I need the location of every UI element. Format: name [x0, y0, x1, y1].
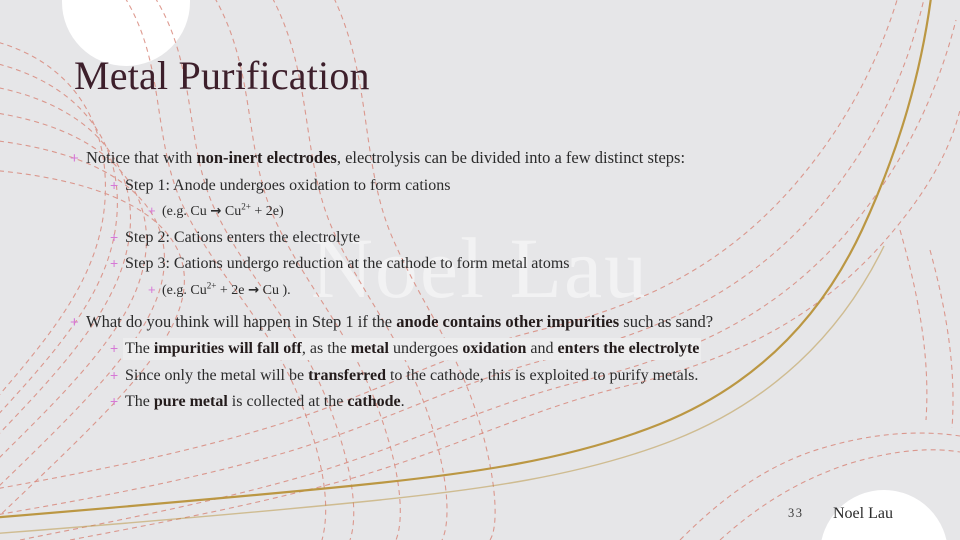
plus-bullet-icon: + — [110, 229, 125, 245]
bullet-item-1: + Notice that with non-inert electrodes,… — [70, 148, 900, 168]
bullet-item-5: + Step 3: Cations undergo reduction at t… — [70, 255, 900, 273]
bullet-item-4: + Step 2: Cations enters the electrolyte — [70, 229, 900, 247]
bullet-item-2: + Step 1: Anode undergoes oxidation to f… — [70, 177, 900, 195]
bullet-item-9: + Since only the metal will be transferr… — [70, 367, 900, 385]
slide-canvas: Noel Lau — [0, 0, 960, 540]
bullet-item-7: + What do you think will happen in Step … — [70, 312, 900, 332]
bullet-2-text: Step 1: Anode undergoes oxidation to for… — [125, 177, 450, 195]
plus-bullet-icon: + — [110, 255, 125, 271]
plus-bullet-icon: + — [110, 367, 125, 383]
plus-bullet-icon: + — [70, 314, 86, 331]
bullet-9-text: Since only the metal will be transferred… — [125, 367, 698, 385]
plus-bullet-icon: + — [148, 203, 162, 218]
bullet-4-text: Step 2: Cations enters the electrolyte — [125, 229, 360, 247]
bullet-1-text: Notice that with non-inert electrodes, e… — [86, 148, 685, 168]
bullet-item-6: + (e.g. Cu2+ + 2e → Cu ). — [70, 282, 900, 299]
page-title: Metal Purification — [74, 53, 370, 99]
bullet-item-3: + (e.g. Cu → Cu2+ + 2e) — [70, 203, 900, 220]
bullet-6-text: (e.g. Cu2+ + 2e → Cu ). — [162, 283, 291, 299]
page-number: 33 — [788, 506, 804, 521]
bullet-item-10: + The pure metal is collected at the cat… — [70, 393, 900, 411]
bullet-item-8: + The impurities will fall off, as the m… — [70, 340, 900, 358]
slide-body: + Notice that with non-inert electrodes,… — [70, 148, 900, 420]
plus-bullet-icon: + — [110, 177, 125, 193]
plus-bullet-icon: + — [148, 282, 162, 297]
bullet-5-text: Step 3: Cations undergo reduction at the… — [125, 255, 570, 273]
bullet-10-text: The pure metal is collected at the catho… — [125, 393, 405, 411]
bullet-8-text: The impurities will fall off, as the met… — [125, 340, 699, 358]
footer-author: Noel Lau — [833, 505, 893, 523]
plus-bullet-icon: + — [110, 340, 125, 356]
bullet-7-text: What do you think will happen in Step 1 … — [86, 312, 713, 332]
bullet-3-text: (e.g. Cu → Cu2+ + 2e) — [162, 204, 284, 220]
plus-bullet-icon: + — [110, 393, 125, 409]
plus-bullet-icon: + — [70, 150, 86, 167]
